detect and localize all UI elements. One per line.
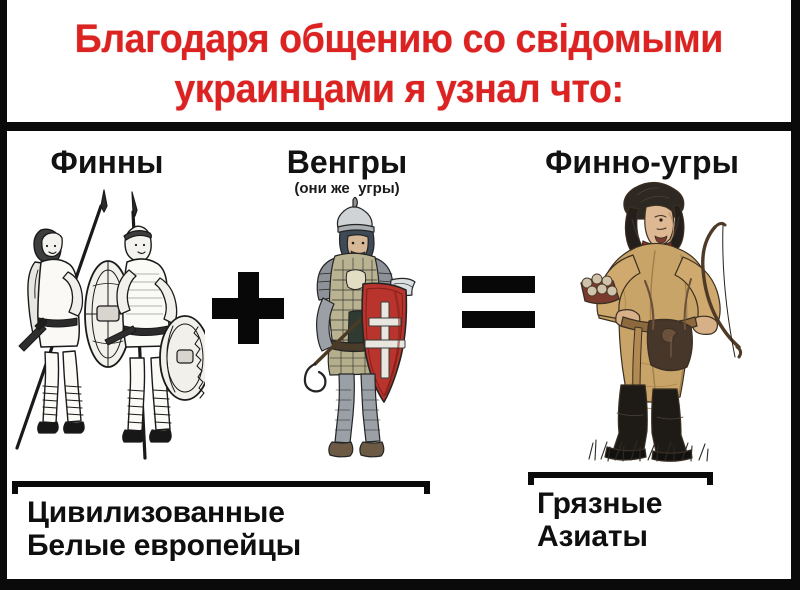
meme-image: Благодаря общению со свідомыми украинцам…: [0, 0, 800, 590]
label-hungarians: Венгры: [247, 145, 447, 179]
header-line-2: украинцами я узнал что:: [174, 64, 623, 114]
header-divider: [0, 122, 800, 131]
bracket-left: [12, 481, 430, 494]
caption-right: Грязные Азиаты: [537, 487, 662, 553]
caption-right-line-2: Азиаты: [537, 520, 662, 553]
caption-right-line-1: Грязные: [537, 487, 662, 520]
equation-area: Финны Венгры (они же угры) Финно-угры: [7, 131, 791, 579]
caption-left-line-1: Цивилизованные: [27, 496, 301, 529]
frame-right-edge: [791, 0, 800, 590]
bracket-right: [528, 472, 713, 485]
plus-operator-icon: [212, 272, 284, 344]
hungarian-knight-illustration: [295, 194, 435, 469]
header-banner: Благодаря общению со свідомыми украинцам…: [7, 4, 791, 122]
header-line-1: Благодаря общению со свідомыми: [75, 14, 723, 64]
equals-operator-icon: [462, 276, 535, 328]
finnish-warriors-illustration: [5, 186, 205, 466]
steppe-nomad-archer-illustration: [545, 171, 760, 471]
caption-left: Цивилизованные Белые европейцы: [27, 496, 301, 562]
label-finns: Финны: [7, 145, 207, 179]
frame-bottom-edge: [0, 579, 800, 590]
caption-left-line-2: Белые европейцы: [27, 529, 301, 562]
